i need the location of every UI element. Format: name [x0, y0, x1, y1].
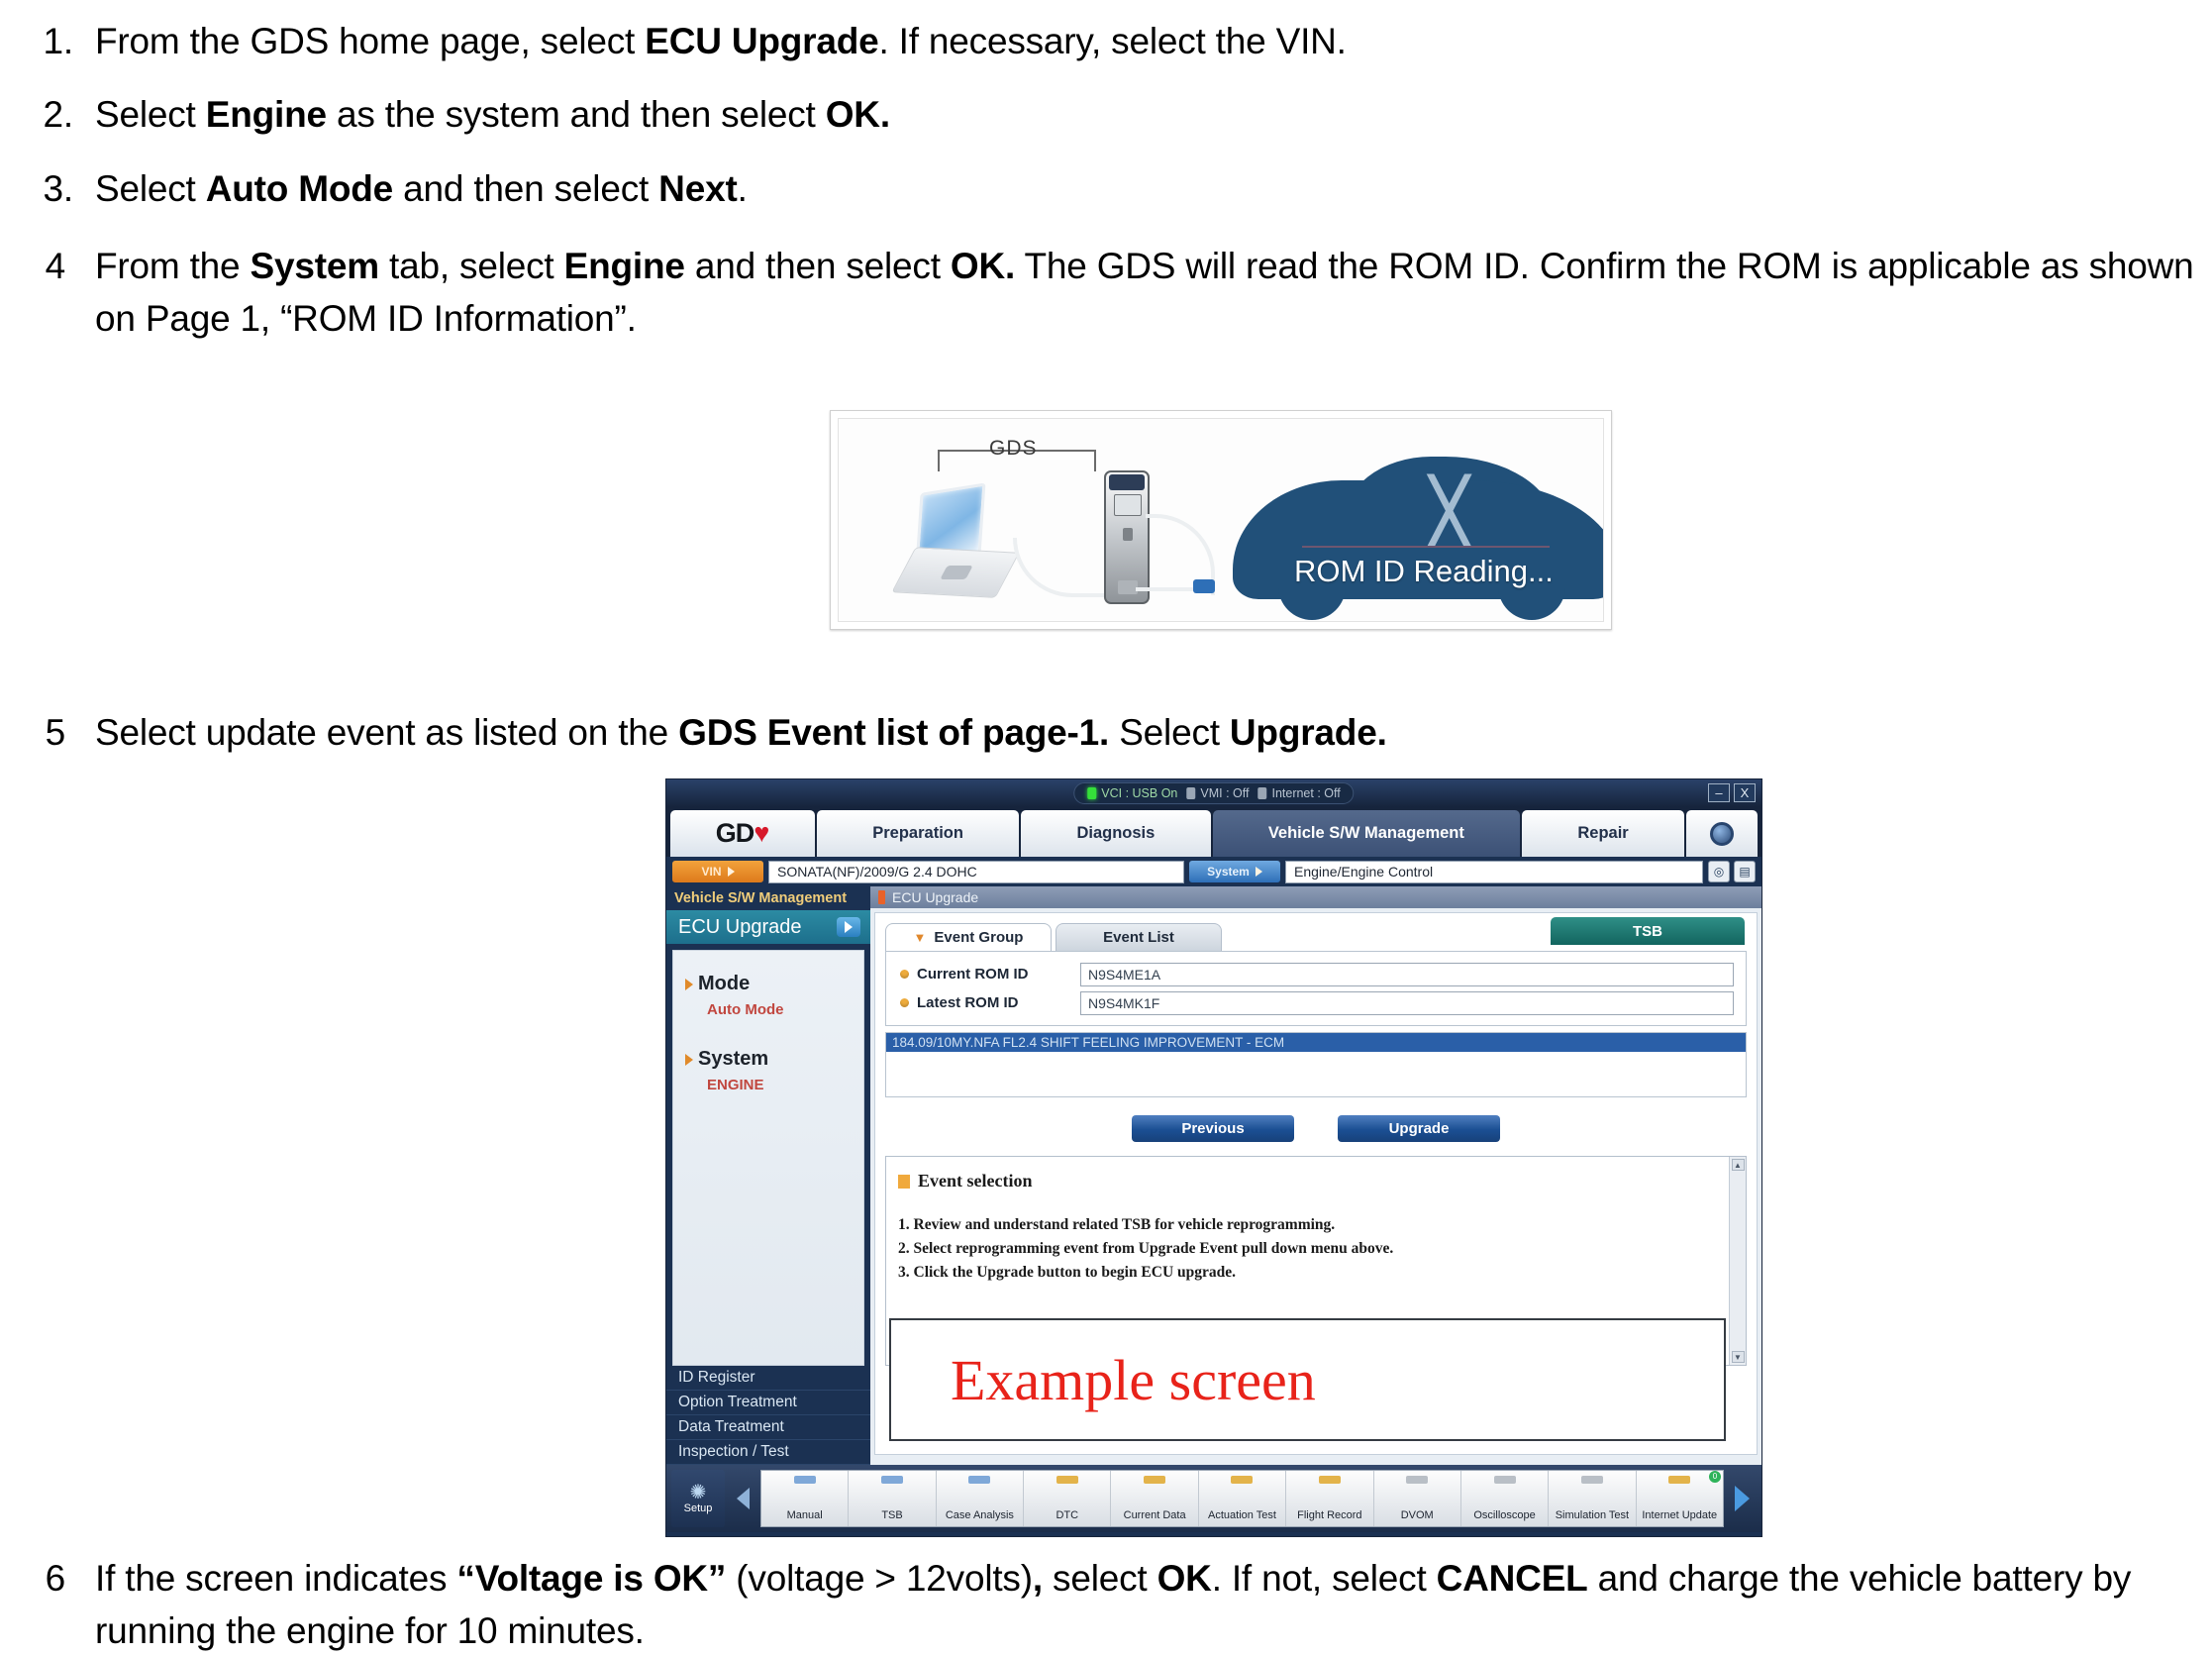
tab-preparation[interactable]: Preparation: [817, 810, 1019, 857]
vmi-led-icon: [1186, 787, 1195, 799]
rom-id-reading-illustration: GDS ╳ ROM ID Reading...: [830, 410, 1612, 630]
sidebar-item-option-treatment[interactable]: Option Treatment: [666, 1391, 870, 1415]
sidebar-group-mode-value: Auto Mode: [707, 1001, 863, 1018]
sidebar-group-mode-label: Mode: [698, 973, 750, 995]
bullet-dot-icon: [900, 970, 909, 979]
tab-event-group[interactable]: ▼ Event Group: [885, 923, 1052, 951]
gear-icon: ✺: [690, 1483, 707, 1502]
tsb-icon: [881, 1476, 903, 1484]
tab-repair[interactable]: Repair: [1522, 810, 1684, 857]
tool-internet-update[interactable]: 0Internet Update: [1637, 1471, 1723, 1526]
vehicle-info-icon[interactable]: ◎: [1708, 861, 1730, 882]
step-text: If the screen indicates “Voltage is OK” …: [95, 1553, 2212, 1657]
status-vci: VCI : USB On: [1087, 786, 1177, 800]
tool-dtc-label: DTC: [1056, 1509, 1078, 1521]
step-number: 1.: [0, 16, 95, 68]
tool-tsb[interactable]: TSB: [849, 1471, 936, 1526]
tool-oscilloscope[interactable]: Oscilloscope: [1461, 1471, 1549, 1526]
note-lines: 1. Review and understand related TSB for…: [898, 1213, 1729, 1285]
content-area: ECU Upgrade ▼ Event Group Event List TSB: [870, 886, 1761, 1465]
current-rom-id-label-wrap: Current ROM ID: [886, 966, 1080, 983]
setup-label: Setup: [684, 1502, 713, 1514]
rom-id-status-text: ROM ID Reading...: [1294, 554, 1571, 589]
toolbar-prev-button[interactable]: [728, 1470, 757, 1527]
tool-manual-label: Manual: [787, 1509, 823, 1521]
latest-rom-id-label-wrap: Latest ROM ID: [886, 994, 1080, 1011]
case-analysis-icon: [968, 1476, 990, 1484]
upgrade-button[interactable]: Upgrade: [1338, 1115, 1500, 1142]
tool-button-strip: Manual TSB Case Analysis DTC Current Dat…: [760, 1470, 1724, 1527]
step-text: From the GDS home page, select ECU Upgra…: [95, 16, 1347, 68]
vehicle-info-bar: VIN SONATA(NF)/2009/G 2.4 DOHC System En…: [666, 857, 1761, 886]
obd-connector-icon: [1193, 579, 1215, 593]
action-button-row: Previous Upgrade: [875, 1115, 1757, 1142]
internet-update-icon: [1668, 1476, 1690, 1484]
step-number: 5: [0, 707, 95, 760]
event-list-selected-item[interactable]: 184.09/10MY.NFA FL2.4 SHIFT FEELING IMPR…: [886, 1033, 1746, 1052]
vin-arrow-icon: [728, 867, 735, 877]
note-line-3: 3. Click the Upgrade button to begin ECU…: [898, 1261, 1729, 1285]
chevron-right-icon: [1735, 1486, 1750, 1511]
step-number: 3.: [0, 163, 95, 216]
sidebar-item-id-register[interactable]: ID Register: [666, 1366, 870, 1391]
car-wheel-rear: [1498, 586, 1565, 620]
step-number: 2.: [0, 89, 95, 142]
search-icon: [1710, 822, 1734, 846]
sidebar-title: Vehicle S/W Management: [666, 886, 870, 910]
manual-icon: [794, 1476, 816, 1484]
tool-simulation-test-label: Simulation Test: [1556, 1509, 1629, 1521]
sidebar-group-mode: Mode Auto Mode: [685, 973, 863, 1018]
bottom-toolbar: ✺ Setup Manual TSB Case Analysis DTC Cur…: [666, 1465, 1761, 1532]
car-divider-line: [1302, 546, 1550, 548]
instruction-step-6: 6 If the screen indicates “Voltage is OK…: [0, 1553, 2212, 1657]
tool-dtc[interactable]: DTC: [1024, 1471, 1111, 1526]
sidebar-group-system: System ENGINE: [685, 1048, 863, 1093]
status-vmi-label: VMI : Off: [1200, 786, 1249, 800]
example-screen-overlay: Example screen: [889, 1318, 1726, 1441]
system-button[interactable]: System: [1189, 861, 1280, 882]
connection-status-pill: VCI : USB On VMI : Off Internet : Off: [1073, 782, 1354, 804]
application-body: Vehicle S/W Management ECU Upgrade Mode …: [666, 886, 1761, 1465]
tab-event-list[interactable]: Event List: [1056, 923, 1222, 951]
tool-current-data-label: Current Data: [1124, 1509, 1186, 1521]
example-screen-label: Example screen: [891, 1347, 1316, 1413]
breadcrumb: ECU Upgrade: [870, 886, 1761, 908]
vin-button-label: VIN: [701, 865, 721, 879]
event-tab-row: ▼ Event Group Event List TSB: [875, 913, 1757, 951]
gds-logo-mark: ♥: [754, 818, 769, 849]
status-internet-label: Internet : Off: [1271, 786, 1340, 800]
tool-actuation-test-label: Actuation Test: [1208, 1509, 1276, 1521]
vin-button[interactable]: VIN: [672, 861, 763, 882]
sidebar-item-ecu-upgrade[interactable]: ECU Upgrade: [666, 910, 870, 944]
note-heading: Event selection: [898, 1171, 1729, 1191]
sidebar-item-data-treatment[interactable]: Data Treatment: [666, 1415, 870, 1440]
internet-led-icon: [1257, 787, 1266, 799]
sidebar-item-ecu-upgrade-label: ECU Upgrade: [678, 916, 802, 939]
gds-logo: GD♥: [670, 810, 815, 857]
instruction-step-5: 5 Select update event as listed on the G…: [0, 707, 1387, 760]
note-marker-icon: [898, 1175, 910, 1189]
tool-internet-update-label: Internet Update: [1642, 1509, 1717, 1521]
vehicle-bar-icons: ◎ ▤: [1708, 861, 1756, 882]
sidebar-group-system-label: System: [698, 1048, 768, 1071]
sidebar-group-mode-header: Mode: [685, 973, 863, 995]
current-rom-id-field[interactable]: N9S4ME1A: [1080, 963, 1734, 986]
tab-vehicle-sw-management[interactable]: Vehicle S/W Management: [1213, 810, 1521, 857]
step-text: Select Engine as the system and then sel…: [95, 89, 890, 142]
content-panel: ▼ Event Group Event List TSB Current ROM…: [874, 912, 1758, 1455]
gds-illustration-label: GDS: [989, 437, 1038, 461]
event-list-box[interactable]: 184.09/10MY.NFA FL2.4 SHIFT FEELING IMPR…: [885, 1032, 1747, 1097]
system-button-label: System: [1207, 865, 1250, 879]
tab-diagnosis[interactable]: Diagnosis: [1021, 810, 1210, 857]
note-heading-label: Event selection: [918, 1171, 1032, 1191]
tool-flight-record[interactable]: Flight Record: [1286, 1471, 1373, 1526]
breadcrumb-marker-icon: [878, 890, 885, 904]
tab-event-list-label: Event List: [1103, 929, 1174, 946]
breadcrumb-label: ECU Upgrade: [892, 889, 978, 905]
dvom-icon: [1406, 1476, 1428, 1484]
tool-flight-record-label: Flight Record: [1297, 1509, 1361, 1521]
current-rom-id-label: Current ROM ID: [917, 966, 1029, 983]
vci-top-cap: [1109, 474, 1145, 490]
brand-x-icon: ╳: [1431, 474, 1463, 547]
bullet-dot-icon: [900, 998, 909, 1007]
flight-record-icon: [1319, 1476, 1341, 1484]
tool-oscilloscope-label: Oscilloscope: [1473, 1509, 1535, 1521]
instruction-step-4: 4 From the System tab, select Engine and…: [0, 241, 2212, 345]
rom-id-block: Current ROM ID N9S4ME1A Latest ROM ID N9…: [885, 951, 1747, 1026]
gds-logo-text: GD: [716, 818, 754, 849]
status-internet: Internet : Off: [1257, 786, 1340, 800]
minimize-button[interactable]: –: [1708, 783, 1730, 802]
sidebar-links: ID Register Option Treatment Data Treatm…: [666, 1366, 870, 1465]
step-text: Select Auto Mode and then select Next.: [95, 163, 748, 216]
scroll-up-icon[interactable]: ▲: [1732, 1159, 1745, 1171]
car-wheel-front: [1278, 586, 1346, 620]
note-line-2: 2. Select reprogramming event from Upgra…: [898, 1237, 1729, 1261]
status-vmi: VMI : Off: [1186, 786, 1249, 800]
main-navigation-bar: GD♥ Preparation Diagnosis Vehicle S/W Ma…: [666, 807, 1761, 857]
tool-manual[interactable]: Manual: [761, 1471, 849, 1526]
system-arrow-icon: [1256, 867, 1262, 877]
sidebar-group-system-value: ENGINE: [707, 1077, 863, 1093]
oscilloscope-icon: [1494, 1476, 1516, 1484]
tool-case-analysis[interactable]: Case Analysis: [937, 1471, 1024, 1526]
illustration-canvas: GDS ╳ ROM ID Reading...: [838, 418, 1604, 622]
triangle-right-icon: [685, 979, 693, 990]
simulation-test-icon: [1581, 1476, 1603, 1484]
car-illustration: ╳ ROM ID Reading...: [1233, 457, 1604, 620]
search-button[interactable]: [1686, 810, 1758, 857]
internet-update-badge: 0: [1709, 1471, 1721, 1483]
latest-rom-id-row: Latest ROM ID N9S4MK1F: [886, 989, 1746, 1016]
setup-button[interactable]: ✺ Setup: [671, 1470, 725, 1527]
current-data-icon: [1144, 1476, 1165, 1484]
sidebar-group-system-header: System: [685, 1048, 863, 1071]
actuation-test-icon: [1231, 1476, 1253, 1484]
vci-led-icon: [1087, 787, 1096, 799]
window-controls: – X: [1708, 783, 1756, 802]
chevron-left-icon: [737, 1488, 750, 1509]
vin-value-field[interactable]: SONATA(NF)/2009/G 2.4 DOHC: [768, 861, 1184, 883]
gds-application-window: VCI : USB On VMI : Off Internet : Off – …: [665, 778, 1762, 1537]
cable-laptop-to-vci: [1013, 538, 1108, 597]
vci-bottom-port: [1118, 580, 1138, 594]
save-report-icon[interactable]: ▤: [1734, 861, 1756, 882]
close-button[interactable]: X: [1734, 783, 1756, 802]
dtc-icon: [1056, 1476, 1078, 1484]
tool-simulation-test[interactable]: Simulation Test: [1549, 1471, 1636, 1526]
cable-vci-to-car-segment: [1136, 587, 1199, 591]
note-scrollbar[interactable]: ▲ ▼: [1729, 1157, 1746, 1365]
step-number: 4: [0, 241, 95, 293]
note-line-1: 1. Review and understand related TSB for…: [898, 1213, 1729, 1237]
vci-indicator: [1123, 528, 1133, 541]
chevron-right-icon: [837, 917, 860, 937]
tool-case-analysis-label: Case Analysis: [946, 1509, 1014, 1521]
tool-current-data[interactable]: Current Data: [1111, 1471, 1198, 1526]
instruction-step-2: 2. Select Engine as the system and then …: [0, 89, 890, 142]
latest-rom-id-label: Latest ROM ID: [917, 994, 1019, 1011]
bullet-icon: ▼: [914, 930, 927, 945]
sidebar-item-inspection-test[interactable]: Inspection / Test: [666, 1440, 870, 1465]
tool-dvom[interactable]: DVOM: [1374, 1471, 1461, 1526]
tool-actuation-test[interactable]: Actuation Test: [1199, 1471, 1286, 1526]
tsb-button[interactable]: TSB: [1551, 917, 1745, 945]
system-value-field[interactable]: Engine/Engine Control: [1285, 861, 1703, 883]
tab-event-group-label: Event Group: [934, 929, 1023, 946]
step-text: Select update event as listed on the GDS…: [95, 707, 1387, 760]
window-titlebar: VCI : USB On VMI : Off Internet : Off – …: [666, 779, 1761, 807]
tool-dvom-label: DVOM: [1401, 1509, 1434, 1521]
step-number: 6: [0, 1553, 95, 1605]
current-rom-id-row: Current ROM ID N9S4ME1A: [886, 961, 1746, 987]
status-vci-label: VCI : USB On: [1101, 786, 1177, 800]
triangle-right-icon: [685, 1054, 693, 1066]
toolbar-next-button[interactable]: [1727, 1470, 1757, 1527]
vci-module-icon: [1104, 470, 1150, 604]
instruction-step-3: 3. Select Auto Mode and then select Next…: [0, 163, 748, 216]
latest-rom-id-field[interactable]: N9S4MK1F: [1080, 991, 1734, 1015]
instruction-step-1: 1. From the GDS home page, select ECU Up…: [0, 16, 1347, 68]
step-text: From the System tab, select Engine and t…: [95, 241, 2212, 345]
laptop-icon: [902, 488, 1011, 602]
left-sidebar: Vehicle S/W Management ECU Upgrade Mode …: [666, 886, 870, 1465]
scroll-down-icon[interactable]: ▼: [1732, 1351, 1745, 1363]
previous-button[interactable]: Previous: [1132, 1115, 1294, 1142]
vci-display: [1114, 494, 1142, 516]
sidebar-selection-panel: Mode Auto Mode System ENGINE: [672, 950, 864, 1366]
tool-tsb-label: TSB: [881, 1509, 902, 1521]
